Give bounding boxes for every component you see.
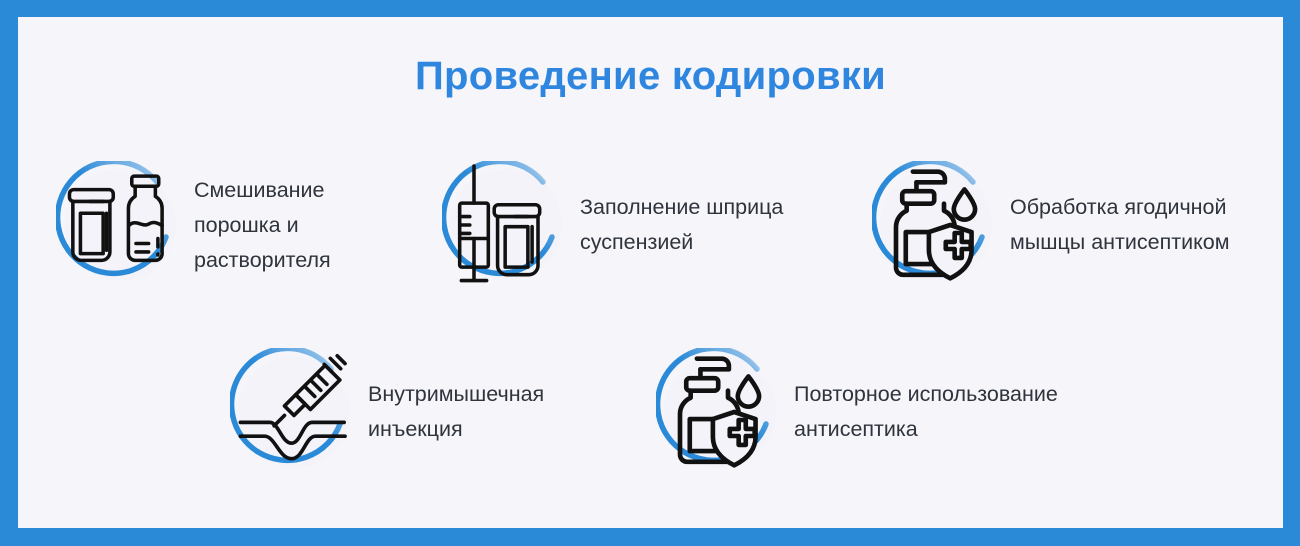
- step-1-label: Смешивание порошка и растворителя: [194, 173, 331, 278]
- step-item-5: Повторное использование антисептика: [656, 348, 1058, 476]
- step-5-icon-wrap: [656, 348, 784, 476]
- step-item-1: Смешивание порошка и растворителя: [56, 161, 331, 289]
- step-3-badge: [872, 161, 1000, 289]
- page-title: Проведение кодировки: [18, 54, 1283, 99]
- vial-and-bottle-icon: [56, 161, 184, 289]
- outer-blue-frame: Проведение кодировки: [0, 0, 1300, 546]
- step-1-badge: [56, 161, 184, 289]
- antiseptic-dispenser-shield-icon: [872, 161, 1000, 289]
- infographic-card: Проведение кодировки: [18, 17, 1283, 528]
- step-2-label: Заполнение шприца суспензией: [580, 190, 783, 260]
- step-5-label: Повторное использование антисептика: [794, 377, 1058, 447]
- step-4-icon-wrap: [230, 348, 358, 476]
- antiseptic-dispenser-shield-icon: [656, 348, 784, 476]
- step-2-badge: [442, 161, 570, 289]
- step-3-label: Обработка ягодичной мышцы антисептиком: [1010, 190, 1230, 260]
- step-5-badge: [656, 348, 784, 476]
- step-item-3: Обработка ягодичной мышцы антисептиком: [872, 161, 1230, 289]
- step-item-4: Внутримышечная инъекция: [230, 348, 544, 476]
- intramuscular-injection-icon: [230, 348, 358, 476]
- step-2-icon-wrap: [442, 161, 570, 289]
- step-4-label: Внутримышечная инъекция: [368, 377, 544, 447]
- step-1-icon-wrap: [56, 161, 184, 289]
- syringe-and-vial-icon: [442, 161, 570, 289]
- step-item-2: Заполнение шприца суспензией: [442, 161, 783, 289]
- step-4-badge: [230, 348, 358, 476]
- step-3-icon-wrap: [872, 161, 1000, 289]
